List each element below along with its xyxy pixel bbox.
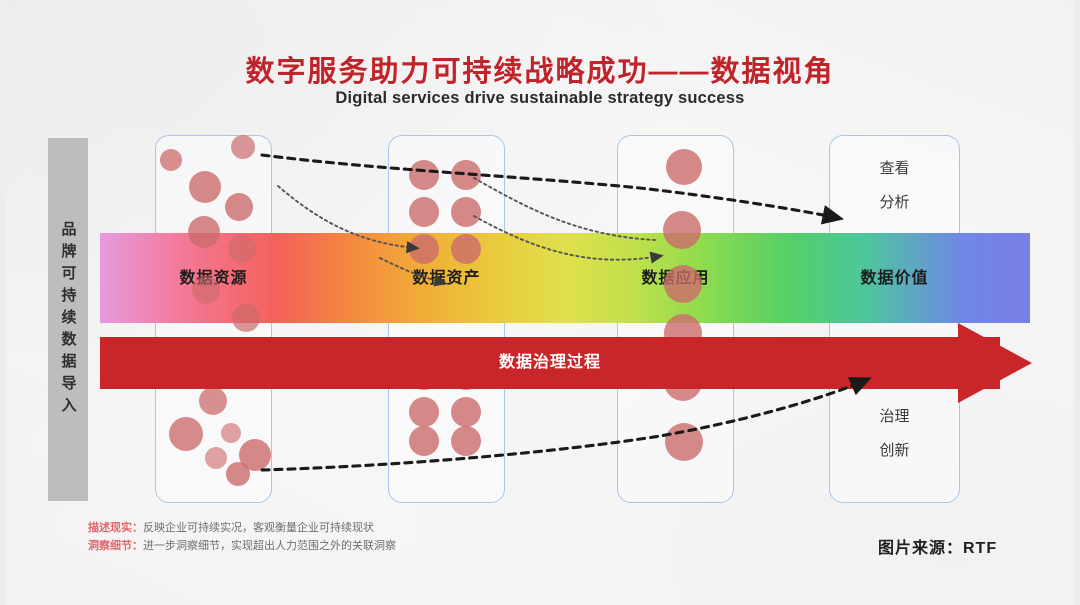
- page-title-english: Digital services drive sustainable strat…: [0, 89, 1080, 108]
- data-dot-asset-top: [409, 234, 439, 264]
- data-dot-asset-bottom: [409, 426, 439, 456]
- data-dot-resource: [192, 276, 220, 304]
- footnote-1-value: 反映企业可持续实况，客观衡量企业可持续现状: [143, 522, 374, 534]
- data-dot-resource: [199, 387, 227, 415]
- data-dot-asset-top: [451, 234, 481, 264]
- data-dot-application: [664, 265, 702, 303]
- stage-label-asset: 数据资产: [388, 268, 505, 290]
- data-dot-application: [665, 423, 703, 461]
- data-dot-resource: [169, 417, 203, 451]
- footnote-1-key: 描述现实：: [88, 522, 143, 534]
- data-dot-asset-top: [451, 160, 481, 190]
- data-dot-application: [663, 211, 701, 249]
- side-note-bottom-line2: 创新: [829, 434, 960, 468]
- arrow-bottom-route: [262, 380, 866, 470]
- side-note-top-line2: 分析: [829, 186, 960, 220]
- side-note-view-analyze: 查看 分析: [829, 152, 960, 220]
- footnote-2-value: 进一步洞察细节，实现超出人力范围之外的关联洞察: [143, 540, 396, 552]
- data-dot-resource: [188, 216, 220, 248]
- data-dot-asset-bottom: [451, 426, 481, 456]
- side-note-govern-innovate: 治理 创新: [829, 400, 960, 468]
- data-dot-resource: [232, 304, 260, 332]
- data-dot-application: [666, 149, 702, 185]
- governance-arrow-label: 数据治理过程: [100, 337, 1000, 389]
- footnote-describe-reality: 描述现实：反映企业可持续实况，客观衡量企业可持续现状: [88, 521, 374, 536]
- data-dot-asset-bottom: [409, 397, 439, 427]
- side-note-bottom-line1: 治理: [829, 400, 960, 434]
- data-dot-asset-bottom: [451, 397, 481, 427]
- data-dot-resource: [160, 149, 182, 171]
- side-note-top-line1: 查看: [829, 152, 960, 186]
- data-dot-asset-top: [409, 197, 439, 227]
- image-source-credit: 图片来源：RTF: [878, 534, 997, 558]
- data-dot-asset-top: [451, 197, 481, 227]
- data-dot-resource: [226, 462, 250, 486]
- brand-data-input-sidebar: 品牌可持续数据导入: [48, 138, 88, 501]
- page-title-chinese: 数字服务助力可持续战略成功——数据视角: [0, 48, 1080, 90]
- data-dot-resource: [189, 171, 221, 203]
- data-dot-resource: [231, 135, 255, 159]
- sidebar-label: 品牌可持续数据导入: [61, 221, 76, 419]
- arrow-top-route: [262, 155, 838, 218]
- footnote-2-key: 洞察细节：: [88, 540, 143, 552]
- data-dot-resource: [225, 193, 253, 221]
- stage-label-value: 数据价值: [829, 268, 960, 290]
- footnote-insight-detail: 洞察细节：进一步洞察细节，实现超出人力范围之外的关联洞察: [88, 539, 396, 554]
- data-dot-resource: [205, 447, 227, 469]
- data-dot-resource: [221, 423, 241, 443]
- data-dot-asset-top: [409, 160, 439, 190]
- data-dot-resource: [228, 235, 256, 263]
